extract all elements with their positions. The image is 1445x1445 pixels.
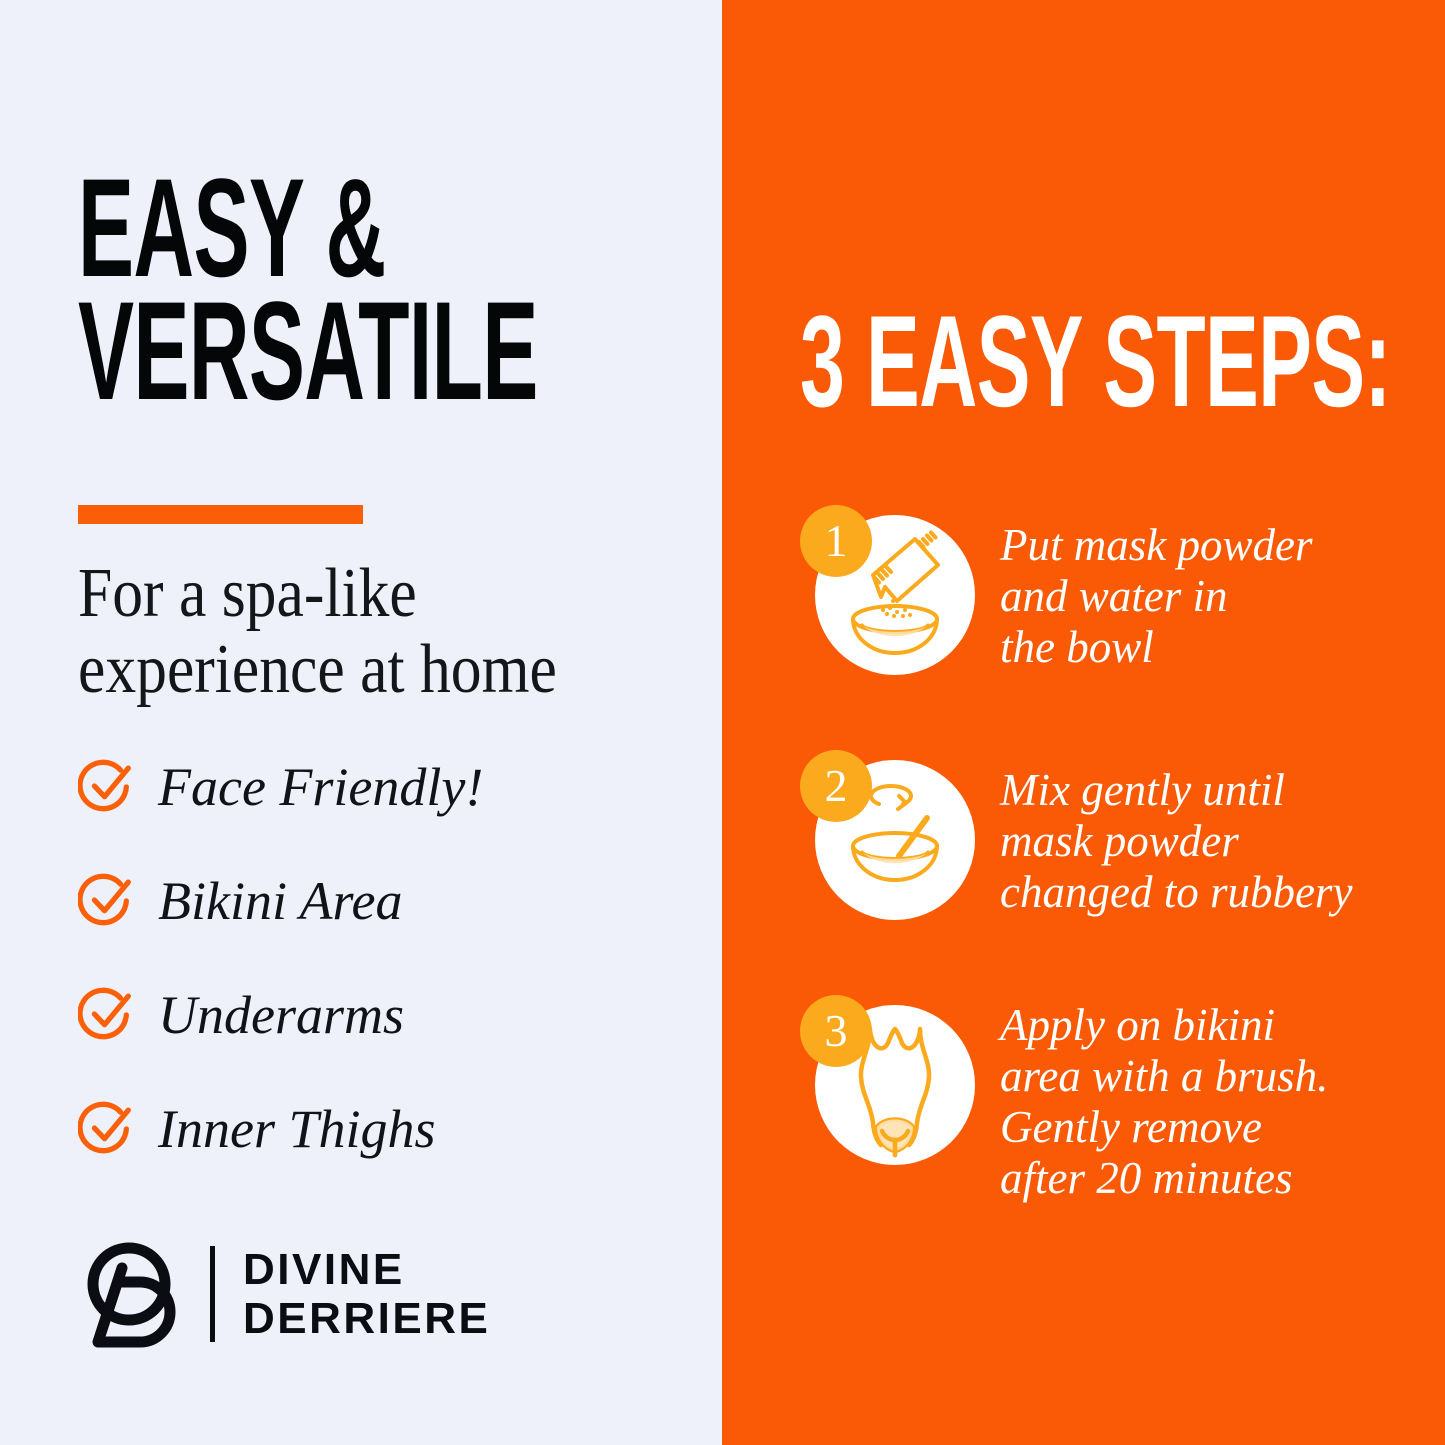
step-description: Put mask powder and water in the bowl [1000, 520, 1420, 673]
step-description: Mix gently until mask powder changed to … [1000, 765, 1420, 918]
subheading: For a spa-like experience at home [78, 556, 632, 707]
list-item-label: Inner Thighs [158, 1102, 436, 1156]
check-circle-icon [78, 872, 136, 930]
check-circle-icon [78, 758, 136, 816]
step-number: 3 [825, 1008, 848, 1054]
step-number-badge: 2 [800, 750, 872, 822]
list-item: Bikini Area [78, 844, 718, 958]
step-description: Apply on bikini area with a brush. Gentl… [1000, 1000, 1420, 1203]
list-item: Underarms [78, 958, 718, 1072]
step-icon-group: 3 [800, 990, 990, 1180]
step-icon-group: 2 [800, 745, 990, 935]
step-icon-group: 1 [800, 500, 990, 690]
accent-divider-bar [78, 505, 363, 524]
step-number-badge: 1 [800, 505, 872, 577]
list-item: Inner Thighs [78, 1072, 718, 1186]
list-item: Face Friendly! [78, 730, 718, 844]
brand-logo: DIVINE DERRIERE [78, 1238, 490, 1350]
feature-checklist: Face Friendly! Bikini Area Underarms [78, 730, 718, 1186]
steps-heading: 3 EASY STEPS: [800, 296, 1197, 426]
brand-name: DIVINE DERRIERE [243, 1245, 490, 1344]
step-number: 2 [825, 763, 848, 809]
list-item-label: Underarms [158, 988, 404, 1042]
check-circle-icon [78, 986, 136, 1044]
logo-divider [210, 1246, 215, 1342]
list-item-label: Bikini Area [158, 874, 402, 928]
page-title: EASY & VERSATILE [78, 166, 450, 412]
promo-graphic: EASY & VERSATILE For a spa-like experien… [0, 0, 1445, 1445]
list-item-label: Face Friendly! [158, 760, 483, 814]
divine-derriere-monogram-icon [78, 1238, 186, 1350]
left-panel: EASY & VERSATILE For a spa-like experien… [0, 0, 722, 1445]
step-number-badge: 3 [800, 995, 872, 1067]
right-panel [722, 0, 1445, 1445]
step-number: 1 [825, 518, 848, 564]
check-circle-icon [78, 1100, 136, 1158]
